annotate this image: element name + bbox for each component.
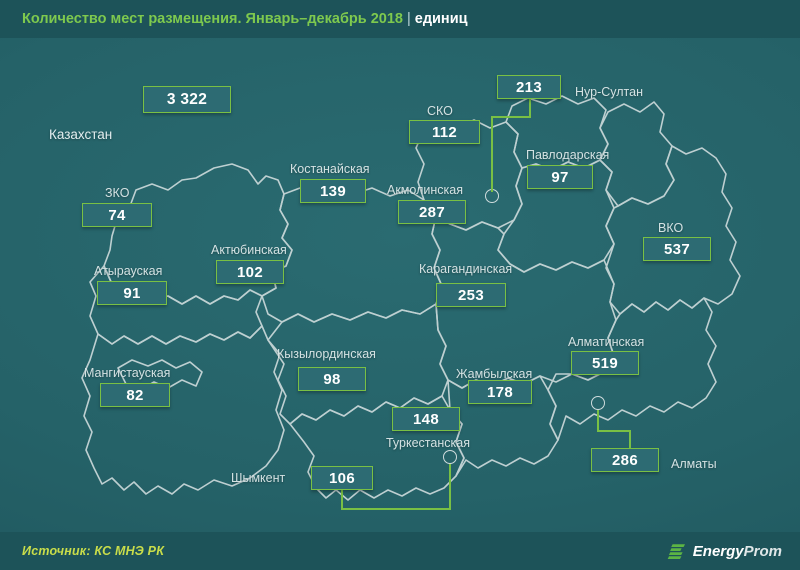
leader-shymkent-v1 <box>449 464 451 510</box>
leader-almaty-h <box>597 430 631 432</box>
title-main: Количество мест размещения. Январь–декаб… <box>22 11 403 27</box>
region-label-atyrau: Атырауская <box>94 264 162 278</box>
region-label-shymkent: Шымкент <box>231 471 285 485</box>
region-label-mangistau: Мангистауская <box>84 366 170 380</box>
energyprom-wordmark: EnergyProm <box>693 543 782 560</box>
region-value-sko: 112 <box>409 120 480 144</box>
map-canvas: Казахстан 3 322 СКО 112 Костанайская 139… <box>0 38 800 532</box>
region-value-nur-sultan: 213 <box>497 75 561 99</box>
marker-almaty <box>591 396 605 410</box>
region-value-zko: 74 <box>82 203 152 227</box>
region-shape-pavlodar <box>600 102 674 206</box>
region-label-almaty-oblast: Алматинская <box>568 335 644 349</box>
region-value-pavlodar: 97 <box>527 165 593 189</box>
region-value-kyzylorda: 98 <box>298 367 366 391</box>
logo-energy-text: Energy <box>693 543 744 560</box>
region-label-vko: ВКО <box>658 221 683 235</box>
region-label-almaty-city: Алматы <box>671 457 717 471</box>
title-separator: | <box>403 11 415 27</box>
page-title: Количество мест размещения. Январь–декаб… <box>0 11 468 27</box>
title-unit: единиц <box>415 11 468 27</box>
leader-almaty-v2 <box>629 430 631 448</box>
region-value-kostanay: 139 <box>300 179 366 203</box>
energyprom-mark-icon <box>667 541 687 561</box>
footer-bar: Источник: КС МНЭ РК EnergyProm <box>0 532 800 570</box>
region-label-nur-sultan: Нур-Султан <box>575 85 643 99</box>
leader-nur-sultan-h <box>491 116 531 118</box>
region-value-karaganda: 253 <box>436 283 506 307</box>
region-label-zko: ЗКО <box>105 186 129 200</box>
region-shape-mangistau <box>82 326 284 494</box>
region-label-turkestan: Туркестанская <box>386 436 470 450</box>
leader-shymkent-h <box>341 508 451 510</box>
region-label-pavlodar: Павлодарская <box>526 148 609 162</box>
leader-almaty-v1 <box>597 410 599 432</box>
infographic-root: Количество мест размещения. Январь–декаб… <box>0 0 800 570</box>
source-note: Источник: КС МНЭ РК <box>22 544 164 558</box>
region-label-sko: СКО <box>427 104 453 118</box>
region-label-karaganda: Карагандинская <box>419 262 512 276</box>
region-value-almaty-city: 286 <box>591 448 659 472</box>
leader-nur-sultan-v2 <box>491 116 493 192</box>
region-value-atyrau: 91 <box>97 281 167 305</box>
region-value-zhambyl: 178 <box>468 380 532 404</box>
region-value-aktobe: 102 <box>216 260 284 284</box>
logo-prom-text: Prom <box>744 543 782 560</box>
region-label-kyzylorda: Кызылординская <box>277 347 376 361</box>
region-value-almaty-oblast: 519 <box>571 351 639 375</box>
region-value-akmola: 287 <box>398 200 466 224</box>
region-label-kostanay: Костанайская <box>290 162 370 176</box>
region-value-mangistau: 82 <box>100 383 170 407</box>
region-value-turkestan: 148 <box>392 407 460 431</box>
region-label-zhambyl: Жамбылская <box>456 367 532 381</box>
country-value-box: 3 322 <box>143 86 231 113</box>
marker-shymkent <box>443 450 457 464</box>
region-value-vko: 537 <box>643 237 711 261</box>
region-label-aktobe: Актюбинская <box>211 243 287 257</box>
region-label-akmola: Акмолинская <box>387 183 463 197</box>
region-value-shymkent: 106 <box>311 466 373 490</box>
energyprom-logo[interactable]: EnergyProm <box>667 541 782 561</box>
country-label: Казахстан <box>49 127 112 142</box>
header-bar: Количество мест размещения. Январь–декаб… <box>0 0 800 38</box>
